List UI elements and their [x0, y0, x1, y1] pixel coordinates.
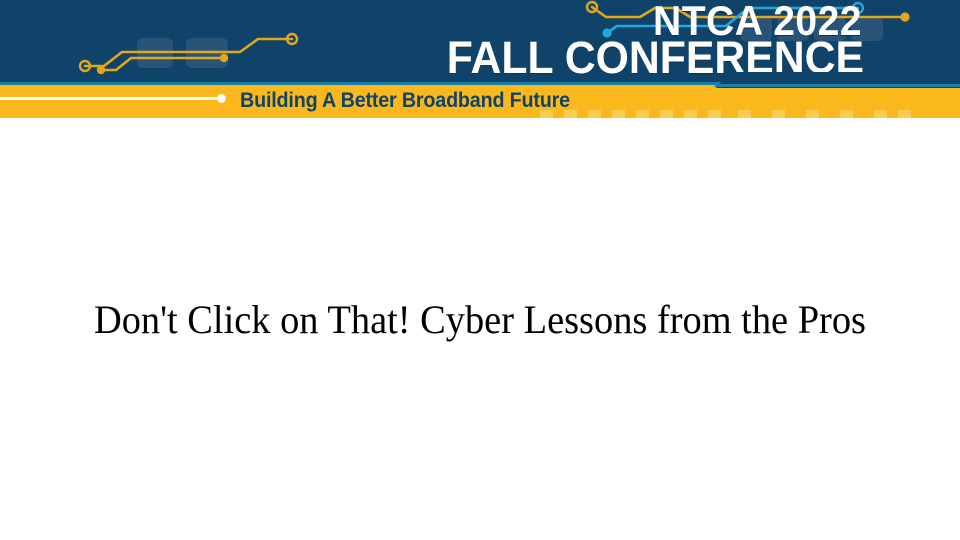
tagline-lead-line	[0, 97, 222, 100]
tick-mark	[738, 110, 751, 118]
tick-mark	[772, 110, 785, 118]
banner-angled-notch-rule	[714, 84, 960, 87]
tick-mark	[660, 110, 673, 118]
slide-body: Don't Click on That! Cyber Lessons from …	[0, 124, 960, 540]
slide-title: Don't Click on That! Cyber Lessons from …	[61, 296, 898, 344]
tick-mark	[612, 110, 625, 118]
tick-mark	[540, 110, 553, 118]
tick-mark	[874, 110, 887, 118]
tick-mark	[806, 110, 819, 118]
tick-mark	[898, 110, 911, 118]
tick-mark	[588, 110, 601, 118]
tick-mark	[708, 110, 721, 118]
tick-mark	[840, 110, 853, 118]
tick-mark	[564, 110, 577, 118]
tick-mark	[684, 110, 697, 118]
banner-tagline: Building A Better Broadband Future	[240, 87, 570, 115]
presentation-slide: NTCA 2022 FALL CONFERENCE Building A Bet…	[0, 0, 960, 540]
tick-mark	[636, 110, 649, 118]
tagline-lead-dot	[217, 94, 226, 103]
banner-tick-marks	[540, 110, 960, 118]
conference-banner: NTCA 2022 FALL CONFERENCE Building A Bet…	[0, 0, 960, 124]
